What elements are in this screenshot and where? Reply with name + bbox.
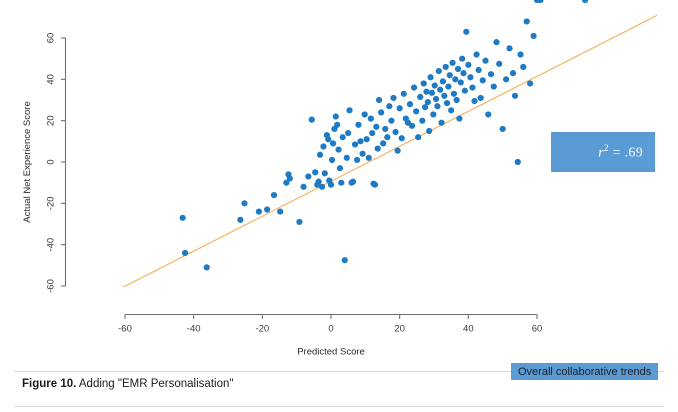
scatter-point: [256, 209, 262, 215]
scatter-point: [362, 111, 368, 117]
y-tick-label: -60: [46, 279, 57, 293]
r-squared-text: r2 = .69: [598, 143, 643, 162]
scatter-point: [411, 85, 417, 91]
x-tick-label: 0: [328, 324, 333, 335]
figure-page: -60-40-200204060-60-40-200204060Predicte…: [0, 0, 678, 412]
scatter-point: [488, 71, 494, 77]
scatter-point: [445, 83, 451, 89]
scatter-point: [372, 182, 378, 188]
scatter-point: [386, 103, 392, 109]
scatter-point: [340, 134, 346, 140]
scatter-point: [287, 175, 293, 181]
scatter-point: [434, 103, 440, 109]
y-tick-label: -20: [46, 196, 57, 210]
y-tick-label: 60: [46, 33, 57, 44]
scatter-point: [180, 215, 186, 221]
scatter-point: [451, 91, 457, 97]
y-tick-label: 0: [46, 159, 57, 164]
scatter-point: [369, 130, 375, 136]
scatter-point: [452, 76, 458, 82]
caption-rule-bottom: [14, 406, 664, 407]
scatter-point: [460, 70, 466, 76]
scatter-point: [443, 64, 449, 70]
scatter-point: [530, 33, 536, 39]
scatter-point: [322, 170, 328, 176]
scatter-point: [447, 72, 453, 78]
scatter-point: [433, 96, 439, 102]
scatter-point: [429, 90, 435, 96]
scatter-point: [337, 165, 343, 171]
scatter-point: [463, 29, 469, 35]
scatter-point: [395, 148, 401, 154]
scatter-point: [317, 152, 323, 158]
scatter-point: [417, 94, 423, 100]
y-axis-title: Actual Net Experience Score: [22, 101, 33, 222]
scatter-point: [425, 99, 431, 105]
scatter-point: [436, 68, 442, 74]
x-tick-label: -40: [187, 324, 201, 335]
scatter-point: [399, 135, 405, 141]
scatter-point: [449, 60, 455, 66]
x-tick-label: -20: [255, 324, 269, 335]
scatter-point: [382, 126, 388, 132]
scatter-point: [510, 70, 516, 76]
scatter-point: [334, 122, 340, 128]
scatter-point: [366, 155, 372, 161]
y-tick-label: -40: [46, 238, 57, 252]
scatter-point: [316, 179, 322, 185]
scatter-point: [333, 113, 339, 119]
scatter-point: [496, 61, 502, 67]
scatter-plot-figure: -60-40-200204060-60-40-200204060Predicte…: [0, 0, 678, 360]
overall-collaborative-trends-badge: Overall collaborative trends: [511, 363, 658, 380]
scatter-point: [342, 257, 348, 263]
scatter-point: [582, 0, 588, 3]
scatter-point: [401, 91, 407, 97]
scatter-point: [448, 107, 454, 113]
scatter-point: [512, 93, 518, 99]
scatter-point: [413, 108, 419, 114]
scatter-point: [350, 179, 356, 185]
x-axis-title: Predicted Score: [297, 347, 365, 358]
axis-labels: -60-40-200204060-60-40-200204060Predicte…: [22, 33, 542, 358]
scatter-point: [338, 180, 344, 186]
scatter-point: [335, 147, 341, 153]
scatter-point: [423, 89, 429, 95]
r-equals-value: = .69: [609, 145, 643, 160]
scatter-point: [517, 51, 523, 57]
scatter-point: [438, 120, 444, 126]
y-tick-label: 20: [46, 115, 57, 126]
scatter-point: [277, 209, 283, 215]
scatter-point: [432, 82, 438, 88]
scatter-point: [471, 98, 477, 104]
scatter-point: [493, 39, 499, 45]
scatter-point: [345, 130, 351, 136]
scatter-point: [373, 124, 379, 130]
scatter-point: [524, 18, 530, 24]
scatter-point: [467, 74, 473, 80]
scatter-point: [478, 95, 484, 101]
scatter-point: [384, 134, 390, 140]
y-tick-label: 40: [46, 74, 57, 85]
scatter-point: [491, 83, 497, 89]
scatter-points: [180, 0, 589, 271]
scatter-point: [482, 58, 488, 64]
scatter-point: [455, 66, 461, 72]
scatter-point: [503, 76, 509, 82]
figure-caption: Figure 10. Adding "EMR Personalisation": [22, 378, 233, 390]
scatter-point: [476, 67, 482, 73]
scatter-point: [346, 107, 352, 113]
scatter-point: [388, 118, 394, 124]
plot-axes: [61, 38, 537, 319]
scatter-point: [344, 155, 350, 161]
scatter-point: [375, 145, 381, 151]
scatter-point: [368, 116, 374, 122]
scatter-point: [392, 129, 398, 135]
scatter-point: [500, 126, 506, 132]
scatter-point: [328, 182, 334, 188]
scatter-point: [473, 51, 479, 57]
scatter-point: [440, 78, 446, 84]
scatter-point: [352, 141, 358, 147]
scatter-point: [271, 192, 277, 198]
scatter-point: [357, 138, 363, 144]
r-squared-callout: r2 = .69: [551, 132, 655, 172]
scatter-point: [409, 123, 415, 129]
scatter-plot-svg: -60-40-200204060-60-40-200204060Predicte…: [0, 0, 678, 360]
scatter-point: [359, 151, 365, 157]
scatter-point: [415, 134, 421, 140]
scatter-point: [378, 109, 384, 115]
scatter-point: [312, 169, 318, 175]
scatter-point: [241, 200, 247, 206]
scatter-point: [469, 85, 475, 91]
scatter-point: [459, 56, 465, 62]
scatter-point: [237, 217, 243, 223]
scatter-point: [380, 140, 386, 146]
scatter-point: [305, 173, 311, 179]
scatter-point: [465, 62, 471, 68]
scatter-point: [437, 87, 443, 93]
scatter-point: [426, 128, 432, 134]
scatter-point: [390, 95, 396, 101]
scatter-point: [296, 219, 302, 225]
scatter-point: [527, 80, 533, 86]
scatter-point: [441, 93, 447, 99]
scatter-point: [264, 206, 270, 212]
x-tick-label: 20: [394, 324, 405, 335]
caption-text: Adding "EMR Personalisation": [76, 378, 233, 390]
scatter-point: [330, 140, 336, 146]
scatter-point: [515, 159, 521, 165]
scatter-point: [456, 116, 462, 122]
scatter-point: [309, 117, 315, 123]
scatter-point: [300, 184, 306, 190]
scatter-point: [325, 136, 331, 142]
x-tick-label: 60: [532, 324, 543, 335]
scatter-point: [462, 88, 468, 94]
scatter-point: [427, 74, 433, 80]
scatter-point: [485, 111, 491, 117]
scatter-point: [204, 264, 210, 270]
scatter-point: [458, 79, 464, 85]
scatter-point: [355, 122, 361, 128]
scatter-point: [320, 143, 326, 149]
caption-label: Figure 10.: [22, 378, 76, 390]
scatter-point: [454, 97, 460, 103]
scatter-point: [421, 80, 427, 86]
scatter-point: [319, 184, 325, 190]
scatter-point: [520, 64, 526, 70]
scatter-point: [407, 101, 413, 107]
scatter-point: [376, 97, 382, 103]
scatter-point: [329, 157, 335, 163]
scatter-point: [364, 136, 370, 142]
scatter-point: [419, 118, 425, 124]
scatter-point: [354, 157, 360, 163]
x-tick-label: -60: [118, 324, 132, 335]
scatter-point: [480, 77, 486, 83]
scatter-point: [182, 250, 188, 256]
scatter-point: [444, 100, 450, 106]
scatter-point: [397, 105, 403, 111]
x-tick-label: 40: [463, 324, 474, 335]
scatter-point: [430, 111, 436, 117]
scatter-point: [506, 45, 512, 51]
